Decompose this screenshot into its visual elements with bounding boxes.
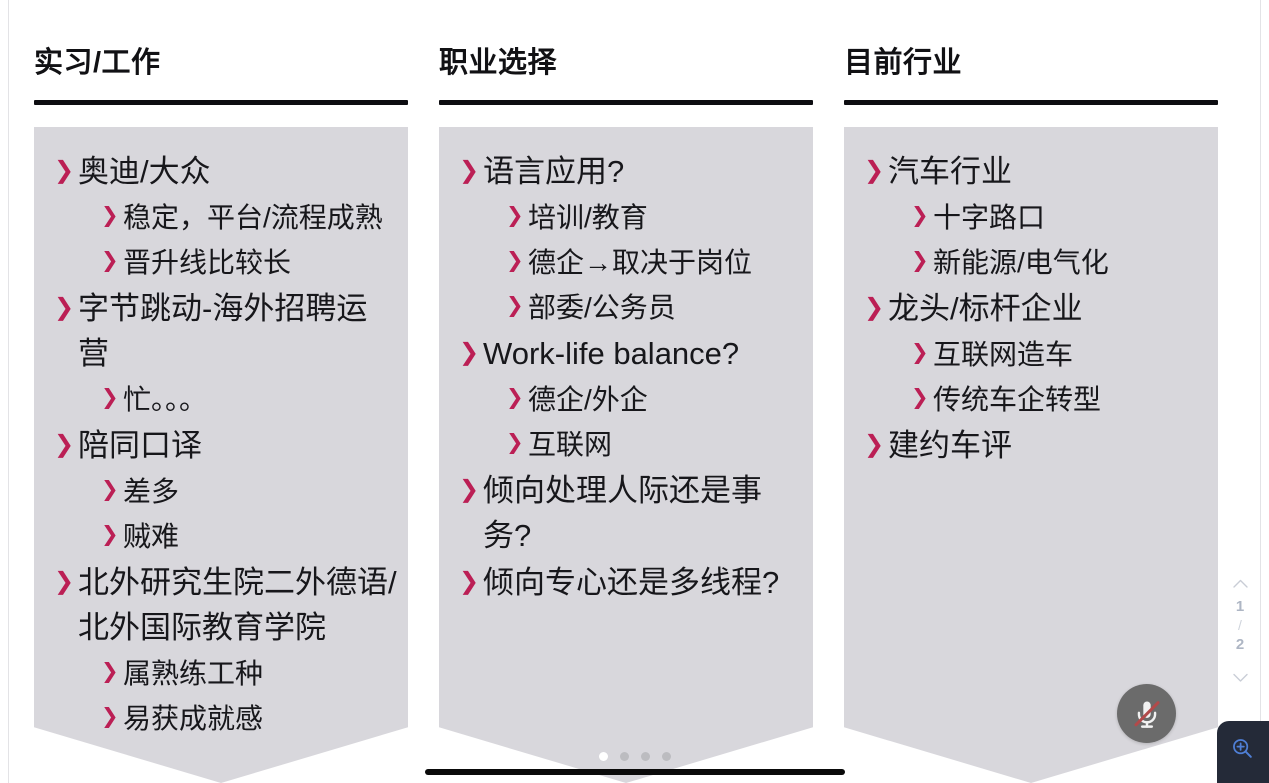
bullet-text: 汽车行业 bbox=[888, 149, 1208, 194]
microphone-muted-icon bbox=[1130, 697, 1164, 731]
chevron-bullet-icon: ❯ bbox=[101, 652, 123, 682]
slide-column-career-choice: 职业选择 ❯ 语言应用? ❯ 培训/教育 ❯ 德企→取决于岗位 bbox=[423, 22, 827, 783]
bullet-text: 忙。。。 bbox=[123, 378, 398, 421]
bullet-text: 建约车评 bbox=[888, 423, 1208, 468]
chevron-bullet-icon: ❯ bbox=[54, 286, 78, 320]
column-divider bbox=[439, 100, 813, 105]
bullet-text: 字节跳动-海外招聘运营 bbox=[78, 286, 398, 376]
bullet-text: 互联网 bbox=[528, 423, 803, 466]
bullet-text: 德企/外企 bbox=[528, 378, 803, 421]
bullet-item: ❯ 倾向专心还是多线程? bbox=[449, 560, 803, 605]
page-current: 1 bbox=[1236, 597, 1244, 616]
bullet-text: 培训/教育 bbox=[528, 196, 803, 239]
bullet-item: ❯ 字节跳动-海外招聘运营 bbox=[44, 286, 398, 376]
page-navigator[interactable]: 1 / 2 bbox=[1223, 570, 1257, 691]
column-divider bbox=[34, 100, 408, 105]
chevron-bullet-icon: ❯ bbox=[459, 331, 483, 365]
chevron-bullet-icon: ❯ bbox=[911, 241, 933, 271]
column-title: 实习/工作 bbox=[18, 22, 422, 88]
chevron-bullet-icon: ❯ bbox=[101, 378, 123, 408]
bullet-item: ❯ 陪同口译 bbox=[44, 423, 398, 468]
bullet-text: 奥迪/大众 bbox=[78, 149, 398, 194]
page-total: 2 bbox=[1236, 635, 1244, 654]
bullet-item: ❯ 德企/外企 bbox=[449, 378, 803, 421]
column-card: ❯ 汽车行业 ❯ 十字路口 ❯ 新能源/电气化 ❯ 龙头/标杆企业 bbox=[844, 127, 1218, 783]
column-card: ❯ 语言应用? ❯ 培训/教育 ❯ 德企→取决于岗位 ❯ 部委/公务员 bbox=[439, 127, 813, 783]
bullet-text: 陪同口译 bbox=[78, 423, 398, 468]
chevron-bullet-icon: ❯ bbox=[911, 196, 933, 226]
zoom-in-icon bbox=[1230, 736, 1255, 761]
chevron-bullet-icon: ❯ bbox=[864, 149, 888, 183]
bullet-text: 德企→取决于岗位 bbox=[528, 241, 803, 284]
bullet-list: ❯ 语言应用? ❯ 培训/教育 ❯ 德企→取决于岗位 ❯ 部委/公务员 bbox=[449, 149, 803, 605]
bullet-text: 差多 bbox=[123, 470, 398, 513]
bullet-text: 属熟练工种 bbox=[123, 652, 398, 695]
chevron-bullet-icon: ❯ bbox=[54, 560, 78, 594]
bullet-item: ❯ 互联网 bbox=[449, 423, 803, 466]
bullet-item: ❯ 稳定，平台/流程成熟 bbox=[44, 196, 398, 239]
bullet-item: ❯ 差多 bbox=[44, 470, 398, 513]
chevron-bullet-icon: ❯ bbox=[506, 423, 528, 453]
zoom-in-button[interactable] bbox=[1217, 721, 1269, 783]
chevron-down-icon[interactable] bbox=[1233, 654, 1248, 691]
chevron-bullet-icon: ❯ bbox=[864, 423, 888, 457]
chevron-up-icon[interactable] bbox=[1233, 570, 1248, 597]
column-card: ❯ 奥迪/大众 ❯ 稳定，平台/流程成熟 ❯ 晋升线比较长 ❯ 字节跳动-海外招… bbox=[34, 127, 408, 783]
page-separator: / bbox=[1238, 616, 1242, 635]
bullet-text: 晋升线比较长 bbox=[123, 241, 398, 284]
bullet-text: 传统车企转型 bbox=[933, 378, 1208, 421]
pagination-dot[interactable] bbox=[641, 752, 650, 761]
chevron-bullet-icon: ❯ bbox=[54, 423, 78, 457]
slide-column-internship-work: 实习/工作 ❯ 奥迪/大众 ❯ 稳定，平台/流程成熟 ❯ 晋升线比较长 bbox=[18, 22, 422, 783]
chevron-bullet-icon: ❯ bbox=[459, 560, 483, 594]
bullet-item: ❯ 忙。。。 bbox=[44, 378, 398, 421]
bullet-item: ❯ 德企→取决于岗位 bbox=[449, 241, 803, 284]
chevron-bullet-icon: ❯ bbox=[459, 468, 483, 502]
chevron-bullet-icon: ❯ bbox=[459, 149, 483, 183]
bullet-item: ❯ 建约车评 bbox=[854, 423, 1208, 468]
bullet-text: 倾向处理人际还是事务? bbox=[483, 468, 803, 558]
bullet-text: 十字路口 bbox=[933, 196, 1208, 239]
bullet-text: 倾向专心还是多线程? bbox=[483, 560, 803, 605]
bullet-item: ❯ 北外研究生院二外德语/北外国际教育学院 bbox=[44, 560, 398, 650]
pagination-dots[interactable] bbox=[0, 752, 1269, 761]
slide-content: 实习/工作 ❯ 奥迪/大众 ❯ 稳定，平台/流程成熟 ❯ 晋升线比较长 bbox=[0, 0, 1269, 783]
bullet-text: 北外研究生院二外德语/北外国际教育学院 bbox=[78, 560, 398, 650]
chevron-bullet-icon: ❯ bbox=[101, 470, 123, 500]
column-divider bbox=[844, 100, 1218, 105]
bullet-item: ❯ 传统车企转型 bbox=[854, 378, 1208, 421]
bullet-item: ❯ 倾向处理人际还是事务? bbox=[449, 468, 803, 558]
bullet-item: ❯ 奥迪/大众 bbox=[44, 149, 398, 194]
bullet-item: ❯ 贼难 bbox=[44, 515, 398, 558]
bullet-item: ❯ 汽车行业 bbox=[854, 149, 1208, 194]
bullet-item: ❯ 易获成就感 bbox=[44, 697, 398, 740]
bullet-item: ❯ 互联网造车 bbox=[854, 333, 1208, 376]
bullet-text: 易获成就感 bbox=[123, 697, 398, 740]
pagination-dot[interactable] bbox=[662, 752, 671, 761]
bullet-text: 贼难 bbox=[123, 515, 398, 558]
mute-button[interactable] bbox=[1117, 684, 1176, 743]
bullet-list: ❯ 汽车行业 ❯ 十字路口 ❯ 新能源/电气化 ❯ 龙头/标杆企业 bbox=[854, 149, 1208, 468]
bullet-text: Work-life balance? bbox=[483, 331, 803, 376]
bullet-text: 龙头/标杆企业 bbox=[888, 286, 1208, 331]
bullet-item: ❯ 龙头/标杆企业 bbox=[854, 286, 1208, 331]
chevron-bullet-icon: ❯ bbox=[101, 697, 123, 727]
bullet-item: ❯ 晋升线比较长 bbox=[44, 241, 398, 284]
chevron-bullet-icon: ❯ bbox=[101, 196, 123, 226]
chevron-bullet-icon: ❯ bbox=[506, 286, 528, 316]
chevron-bullet-icon: ❯ bbox=[911, 333, 933, 363]
chevron-bullet-icon: ❯ bbox=[101, 515, 123, 545]
chevron-bullet-icon: ❯ bbox=[506, 378, 528, 408]
column-title: 目前行业 bbox=[828, 22, 1232, 88]
pagination-dot[interactable] bbox=[620, 752, 629, 761]
bullet-item: ❯ 语言应用? bbox=[449, 149, 803, 194]
bullet-text: 互联网造车 bbox=[933, 333, 1208, 376]
bullet-text: 稳定，平台/流程成熟 bbox=[123, 196, 398, 239]
chevron-bullet-icon: ❯ bbox=[864, 286, 888, 320]
pagination-dot[interactable] bbox=[599, 752, 608, 761]
bullet-item: ❯ 十字路口 bbox=[854, 196, 1208, 239]
bullet-item: ❯ Work-life balance? bbox=[449, 331, 803, 376]
chevron-bullet-icon: ❯ bbox=[506, 196, 528, 226]
slide-column-current-industry: 目前行业 ❯ 汽车行业 ❯ 十字路口 ❯ 新能源/电气化 bbox=[828, 22, 1232, 783]
bullet-item: ❯ 新能源/电气化 bbox=[854, 241, 1208, 284]
bullet-text: 部委/公务员 bbox=[528, 286, 803, 329]
chevron-bullet-icon: ❯ bbox=[54, 149, 78, 183]
bullet-item: ❯ 部委/公务员 bbox=[449, 286, 803, 329]
home-indicator bbox=[425, 769, 845, 775]
bullet-item: ❯ 属熟练工种 bbox=[44, 652, 398, 695]
bullet-item: ❯ 培训/教育 bbox=[449, 196, 803, 239]
chevron-bullet-icon: ❯ bbox=[506, 241, 528, 271]
bullet-text: 语言应用? bbox=[483, 149, 803, 194]
slide-viewer: 实习/工作 ❯ 奥迪/大众 ❯ 稳定，平台/流程成熟 ❯ 晋升线比较长 bbox=[0, 0, 1269, 783]
chevron-bullet-icon: ❯ bbox=[101, 241, 123, 271]
column-title: 职业选择 bbox=[423, 22, 827, 88]
bullet-list: ❯ 奥迪/大众 ❯ 稳定，平台/流程成熟 ❯ 晋升线比较长 ❯ 字节跳动-海外招… bbox=[44, 149, 398, 740]
bullet-text: 新能源/电气化 bbox=[933, 241, 1208, 284]
chevron-bullet-icon: ❯ bbox=[911, 378, 933, 408]
